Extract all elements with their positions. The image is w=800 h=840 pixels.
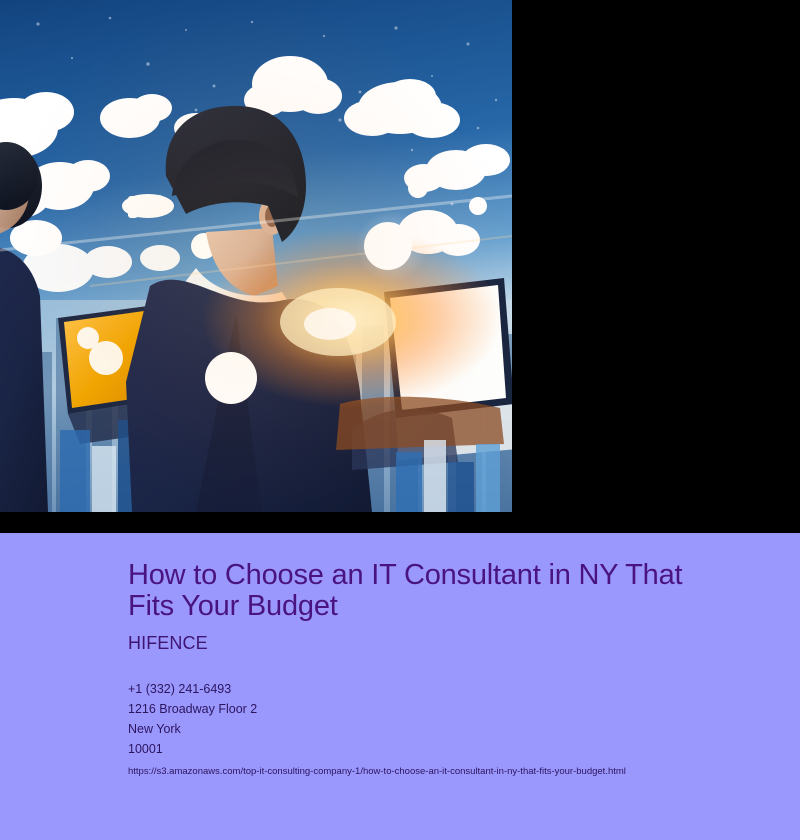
brand-name: HIFENCE [128, 622, 748, 654]
hero-image-region [0, 0, 512, 512]
content-inner: How to Choose an IT Consultant in NY Tha… [128, 533, 748, 781]
page-title: How to Choose an IT Consultant in NY Tha… [128, 533, 708, 622]
contact-postal-code: 10001 [128, 739, 748, 759]
contact-block: +1 (332) 241-6493 1216 Broadway Floor 2 … [128, 654, 748, 759]
hero-photo [0, 0, 512, 512]
contact-street: 1216 Broadway Floor 2 [128, 699, 748, 719]
source-url-link[interactable]: https://s3.amazonaws.com/top-it-consulti… [128, 759, 748, 781]
black-filler-right [512, 0, 800, 533]
contact-phone: +1 (332) 241-6493 [128, 679, 748, 699]
content-band: How to Choose an IT Consultant in NY Tha… [0, 533, 800, 840]
black-filler-bottom [0, 512, 512, 533]
contact-city: New York [128, 719, 748, 739]
